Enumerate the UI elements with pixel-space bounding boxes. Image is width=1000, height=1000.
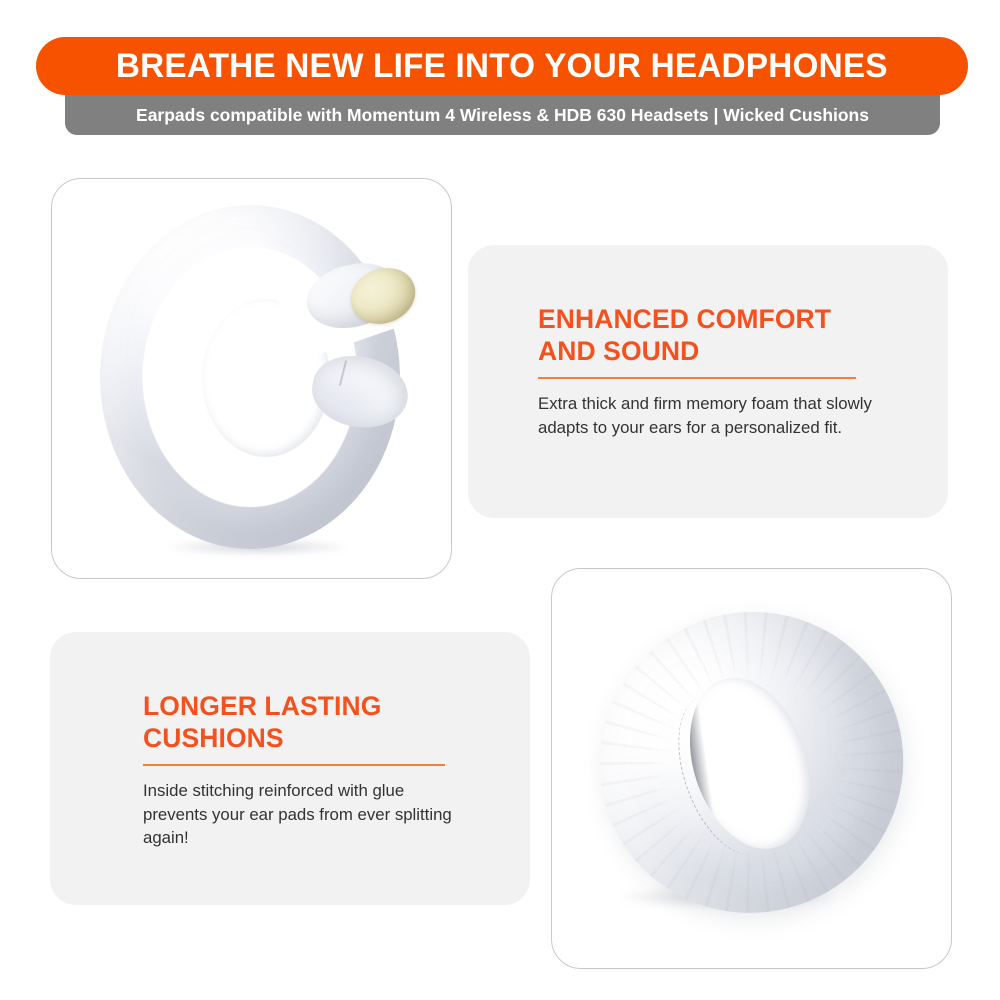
earpad-oval-illustration [551, 568, 952, 969]
feature-title: LONGER LASTING CUSHIONS [143, 690, 473, 755]
feature-content: LONGER LASTING CUSHIONS Inside stitching… [143, 690, 473, 867]
feature-card-longer-lasting: LONGER LASTING CUSHIONS Inside stitching… [50, 632, 530, 905]
headline-text: BREATHE NEW LIFE INTO YOUR HEADPHONES [116, 49, 888, 83]
product-image-card-cutaway [51, 178, 452, 579]
earpad-cutaway-image [52, 179, 451, 578]
feature-title: ENHANCED COMFORT AND SOUND [538, 303, 878, 368]
earpad-oval-image [552, 569, 951, 968]
feature-content: ENHANCED COMFORT AND SOUND Extra thick a… [538, 303, 878, 456]
feature-description: Inside stitching reinforced with glue pr… [143, 779, 473, 851]
feature-divider-rule [143, 764, 445, 766]
feature-divider-rule [538, 377, 856, 379]
earpad-cutaway-illustration [74, 197, 432, 559]
feature-card-enhanced-comfort: ENHANCED COMFORT AND SOUND Extra thick a… [468, 245, 948, 518]
header-banner: Earpads compatible with Momentum 4 Wirel… [0, 0, 1000, 150]
feature-description: Extra thick and firm memory foam that sl… [538, 392, 878, 440]
headline-pill: BREATHE NEW LIFE INTO YOUR HEADPHONES [36, 37, 968, 95]
compatibility-subtitle-text: Earpads compatible with Momentum 4 Wirel… [136, 107, 869, 125]
product-image-card-oval [551, 568, 952, 969]
